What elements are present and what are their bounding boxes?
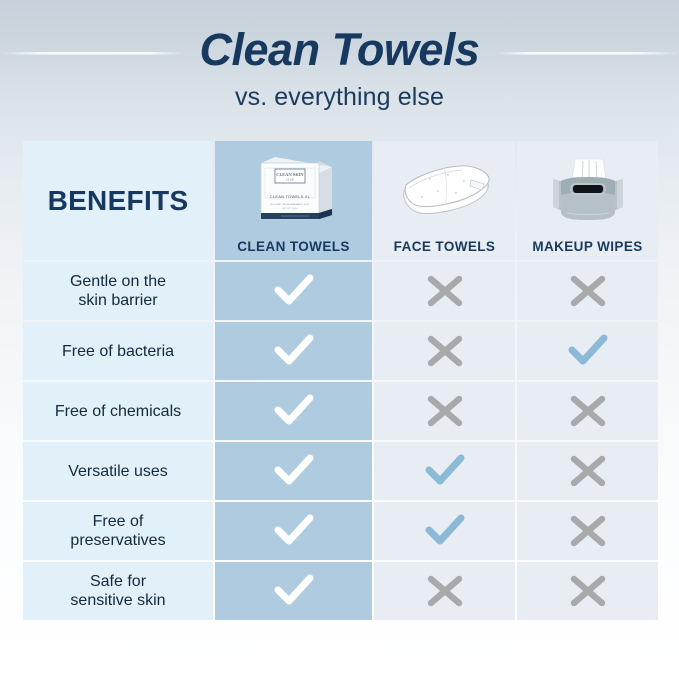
check-icon: [272, 272, 316, 310]
table-row: Safe forsensitive skin: [23, 562, 656, 620]
cross-icon: [423, 272, 467, 310]
cross-icon: [566, 512, 610, 550]
check-icon: [423, 512, 467, 550]
cell-clean-towels: [215, 562, 372, 620]
column-header-label-clean-towels: CLEAN TOWELS: [237, 239, 350, 254]
column-header-makeup-wipes: MAKEUP WIPES: [517, 141, 658, 260]
table-body: Gentle on theskin barrierFree of bacteri…: [23, 262, 656, 620]
wipes-pouch-icon: [545, 155, 631, 225]
check-icon: [272, 512, 316, 550]
cell-clean-towels: [215, 382, 372, 440]
cell-clean-towels: [215, 502, 372, 560]
cell-face-towels: [374, 382, 515, 440]
page-title: Clean Towels: [0, 24, 679, 76]
check-icon: [272, 392, 316, 430]
title-block: Clean Towels vs. everything else: [0, 24, 679, 112]
column-header-face-towels: FACE TOWELS: [374, 141, 515, 260]
check-icon: [272, 452, 316, 490]
benefit-label-cell: Safe forsensitive skin: [23, 562, 213, 620]
comparison-table: BENEFITS C: [23, 141, 656, 622]
cross-icon: [566, 452, 610, 490]
cross-icon: [566, 392, 610, 430]
check-icon: [272, 332, 316, 370]
benefit-label-cell: Free ofpreservatives: [23, 502, 213, 560]
table-row: Free ofpreservatives: [23, 502, 656, 560]
check-icon: [566, 332, 610, 370]
table-header-row: BENEFITS C: [23, 141, 656, 260]
cell-makeup-wipes: [517, 502, 658, 560]
cross-icon: [566, 272, 610, 310]
table-row: Versatile uses: [23, 442, 656, 500]
folded-towel-art: [374, 141, 515, 239]
cell-face-towels: [374, 502, 515, 560]
comparison-chart-page: Clean Towels vs. everything else BENEFIT…: [0, 0, 679, 679]
svg-text:CLUB: CLUB: [286, 179, 294, 182]
cell-makeup-wipes: [517, 322, 658, 380]
cell-makeup-wipes: [517, 562, 658, 620]
cell-makeup-wipes: [517, 442, 658, 500]
benefit-label: Free of chemicals: [55, 402, 181, 421]
column-header-clean-towels: CLEAN SKIN CLUB CLEAN TOWELS XL 50 COUNT…: [215, 141, 372, 260]
benefit-label-cell: Free of bacteria: [23, 322, 213, 380]
product-box-icon: CLEAN SKIN CLUB CLEAN TOWELS XL 50 COUNT…: [251, 153, 337, 227]
page-subtitle: vs. everything else: [0, 82, 679, 112]
cell-face-towels: [374, 562, 515, 620]
benefit-label-cell: Versatile uses: [23, 442, 213, 500]
cross-icon: [423, 572, 467, 610]
cell-face-towels: [374, 262, 515, 320]
benefit-label-cell: Free of chemicals: [23, 382, 213, 440]
benefit-label: Versatile uses: [68, 462, 168, 481]
cell-makeup-wipes: [517, 262, 658, 320]
cross-icon: [566, 572, 610, 610]
benefit-label: Free ofpreservatives: [70, 512, 165, 550]
cross-icon: [423, 332, 467, 370]
product-box-art: CLEAN SKIN CLUB CLEAN TOWELS XL 50 COUNT…: [215, 141, 372, 239]
cell-makeup-wipes: [517, 382, 658, 440]
benefits-header-label: BENEFITS: [48, 185, 189, 217]
cell-clean-towels: [215, 322, 372, 380]
svg-text:NET WT | 100ct: NET WT | 100ct: [282, 207, 297, 210]
cell-clean-towels: [215, 442, 372, 500]
benefit-label: Safe forsensitive skin: [70, 572, 165, 610]
wipes-pouch-art: [517, 141, 658, 239]
cell-face-towels: [374, 322, 515, 380]
svg-text:50 COUNT | BIODEGRADABLE | SOF: 50 COUNT | BIODEGRADABLE | SOFT: [270, 203, 310, 206]
cell-face-towels: [374, 442, 515, 500]
benefit-label-cell: Gentle on theskin barrier: [23, 262, 213, 320]
check-icon: [423, 452, 467, 490]
column-header-label-makeup-wipes: MAKEUP WIPES: [532, 239, 642, 254]
cross-icon: [423, 392, 467, 430]
cell-clean-towels: [215, 262, 372, 320]
svg-text:CLEAN TOWELS XL: CLEAN TOWELS XL: [269, 194, 310, 199]
folded-towel-icon: [396, 157, 494, 223]
table-row: Gentle on theskin barrier: [23, 262, 656, 320]
check-icon: [272, 572, 316, 610]
table-row: Free of bacteria: [23, 322, 656, 380]
benefits-header-cell: BENEFITS: [23, 141, 213, 260]
benefit-label: Free of bacteria: [62, 342, 174, 361]
benefit-label: Gentle on theskin barrier: [70, 272, 166, 310]
table-row: Free of chemicals: [23, 382, 656, 440]
column-header-label-face-towels: FACE TOWELS: [394, 239, 496, 254]
svg-text:CLEAN SKIN: CLEAN SKIN: [276, 172, 304, 177]
